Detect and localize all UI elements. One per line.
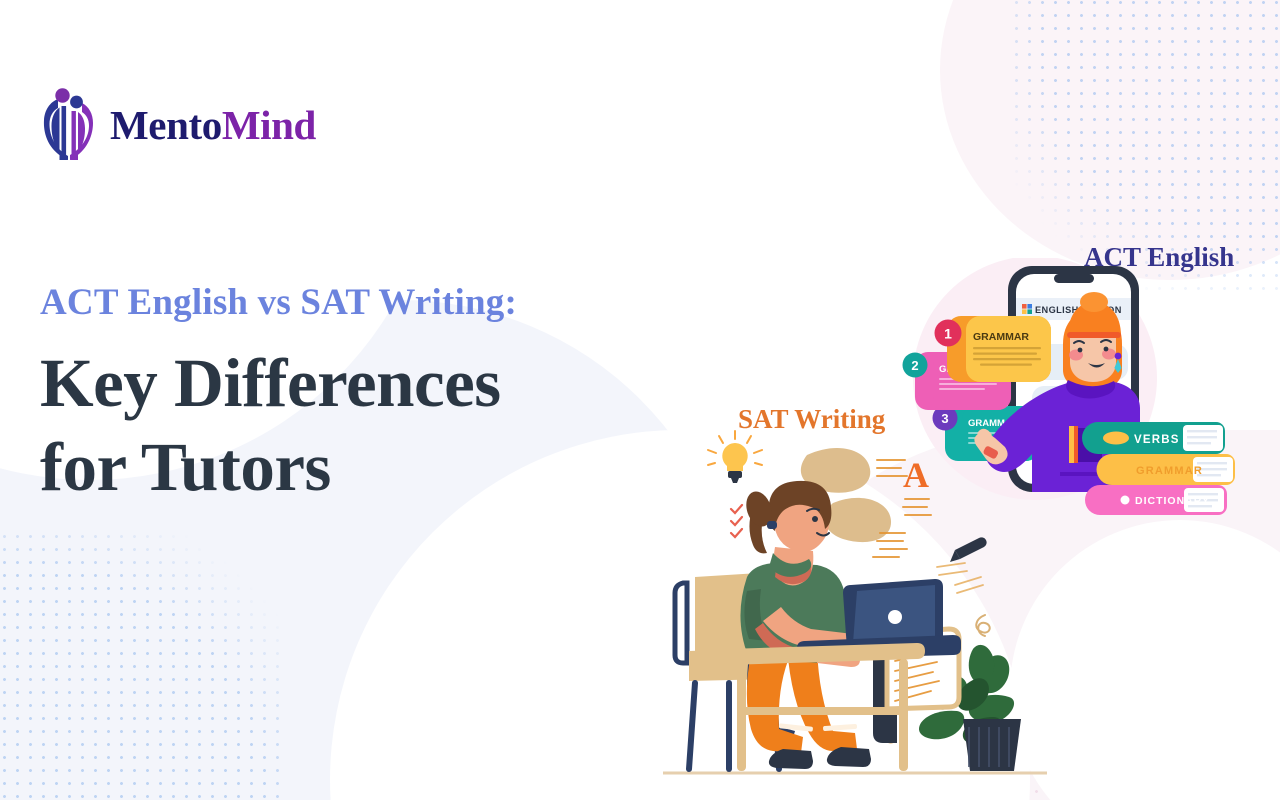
- book-verbs: VERBS: [1082, 422, 1225, 454]
- headline-line-1: Key Differences: [40, 345, 501, 421]
- hero-eyebrow: ACT English vs SAT Writing:: [40, 282, 660, 325]
- lesson-card-1-title: GRAMMAR: [973, 331, 1029, 343]
- lesson-card-1: GRAMMAR 1: [935, 316, 1052, 382]
- sat-writing-illustration: A: [655, 425, 1055, 780]
- svg-text:2: 2: [911, 358, 918, 373]
- headline-line-2: for Tutors: [40, 425, 660, 509]
- brand-wordmark: MentoMind: [110, 105, 316, 146]
- book-dictionary-label: DICTIONARY: [1135, 495, 1210, 507]
- book-grammar: GRAMMAR: [1097, 454, 1236, 485]
- svg-text:3: 3: [941, 411, 948, 426]
- book-grammar-label: GRAMMAR: [1136, 465, 1203, 477]
- mentomind-people-logo-icon: [38, 86, 100, 164]
- svg-text:1: 1: [944, 326, 952, 342]
- checkmarks-mark: [731, 505, 742, 537]
- pen-icon: [950, 537, 987, 562]
- letter-a-mark: A: [903, 455, 929, 495]
- book-stack: VERBS GRAMMAR DICTIONARY: [1082, 422, 1235, 515]
- page-title: Key Differences for Tutors: [40, 341, 660, 509]
- dot-grid-bottomleft: [0, 530, 282, 800]
- brand-name-part2: Mind: [222, 102, 316, 148]
- background-blob-pink-topright: [940, 0, 1280, 280]
- lightbulb-icon: [708, 431, 762, 483]
- brand-name-part1: Mento: [110, 102, 222, 148]
- hero-banner: MentoMind ACT English vs SAT Writing: Ke…: [0, 0, 1280, 800]
- book-dictionary: DICTIONARY: [1085, 485, 1227, 515]
- hero-copy: ACT English vs SAT Writing: Key Differen…: [40, 282, 660, 509]
- book-verbs-label: VERBS: [1134, 434, 1180, 446]
- brand-logo[interactable]: MentoMind: [38, 86, 316, 164]
